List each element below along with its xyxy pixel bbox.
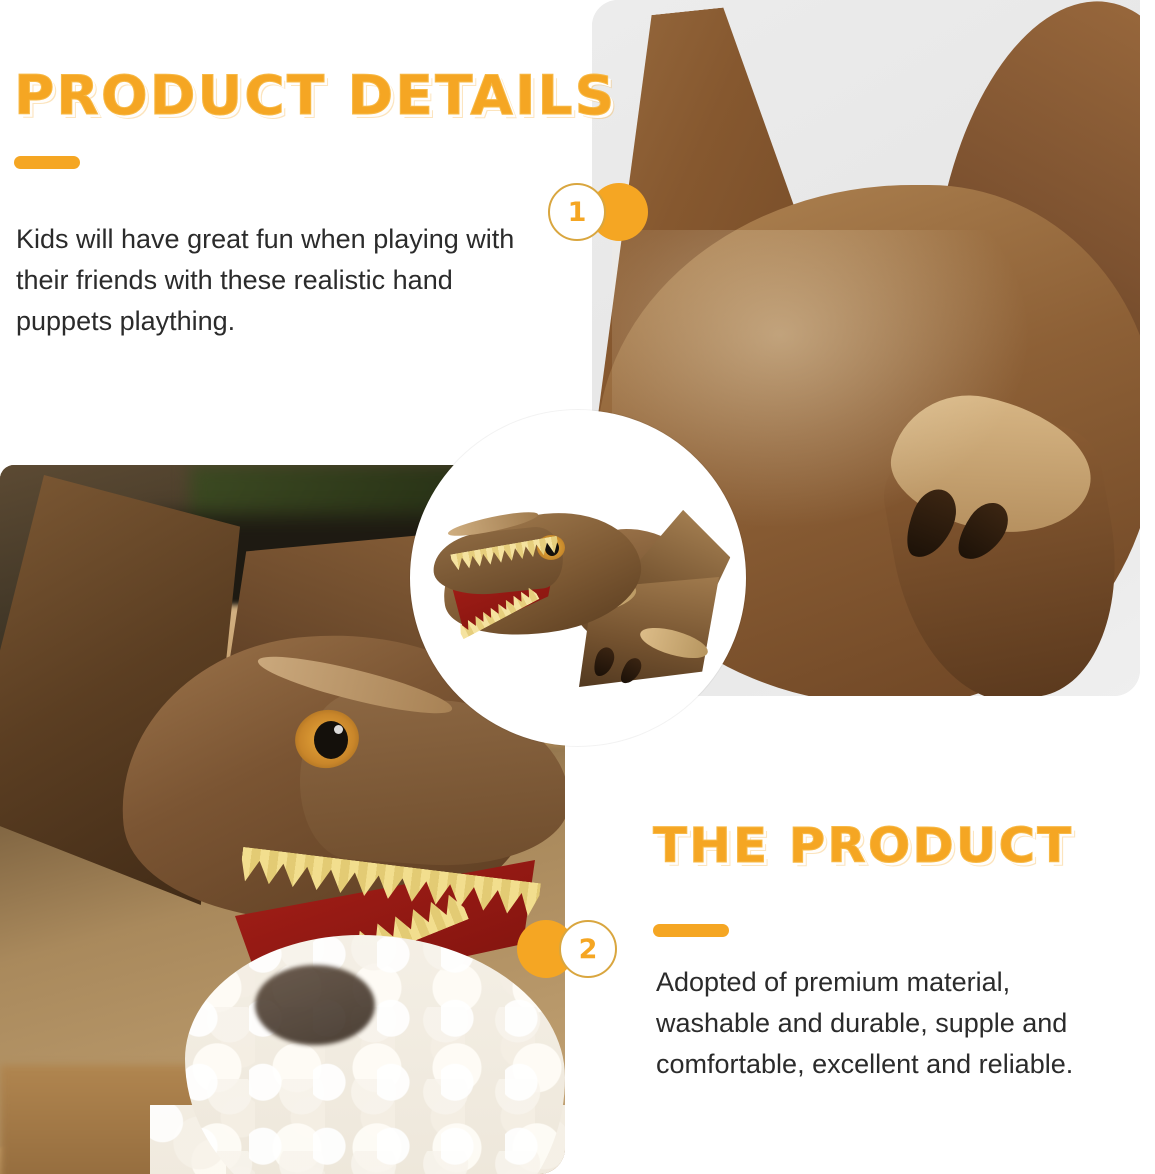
step-badge-1-number: 1 xyxy=(548,183,606,241)
dog-snout xyxy=(255,965,375,1045)
dino-eye-glint xyxy=(334,725,343,734)
body-copy-product-details: Kids will have great fun when playing wi… xyxy=(16,219,516,342)
dino-eye-pupil xyxy=(314,721,348,759)
step-badge-1: 1 xyxy=(548,183,668,243)
infographic-page: PRODUCT DETAILS Kids will have great fun… xyxy=(0,0,1155,1174)
photo-circle-inset xyxy=(410,410,746,746)
step-badge-2: 2 xyxy=(517,920,637,980)
circle-inset-inner xyxy=(419,419,737,737)
title-underline-rule-1 xyxy=(14,156,80,169)
title-underline-rule-2 xyxy=(653,924,729,937)
step-badge-2-number: 2 xyxy=(559,920,617,978)
body-copy-the-product: Adopted of premium material, washable an… xyxy=(656,962,1126,1085)
page-title-product-details: PRODUCT DETAILS xyxy=(14,64,616,127)
page-title-the-product: THE PRODUCT xyxy=(653,818,1073,874)
